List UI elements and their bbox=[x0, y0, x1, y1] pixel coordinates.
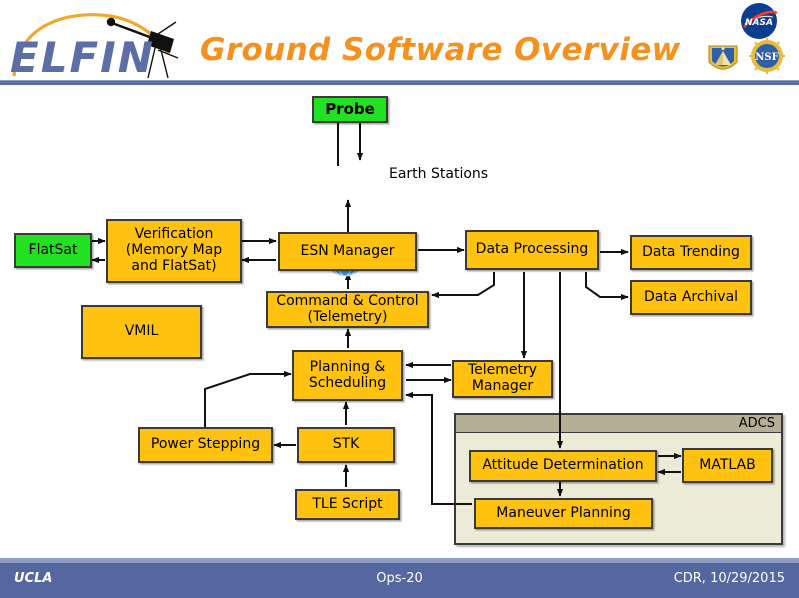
node-maneuver-planning-label: Maneuver Planning bbox=[496, 506, 630, 522]
diagram-canvas: ADCS bbox=[0, 84, 799, 558]
node-command-control[interactable]: Command & Control (Telemetry) bbox=[266, 291, 429, 328]
node-stk[interactable]: STK bbox=[297, 427, 395, 463]
node-flatsat[interactable]: FlatSat bbox=[14, 233, 92, 268]
node-verification-line2: (Memory Map bbox=[126, 243, 222, 259]
node-data-archival[interactable]: Data Archival bbox=[630, 280, 752, 315]
node-esn-manager-label: ESN Manager bbox=[300, 244, 394, 260]
node-esn-manager[interactable]: ESN Manager bbox=[278, 232, 417, 271]
node-verification[interactable]: Verification (Memory Map and FlatSat) bbox=[106, 219, 242, 283]
node-data-processing-label: Data Processing bbox=[476, 242, 589, 258]
node-flatsat-label: FlatSat bbox=[29, 243, 78, 259]
node-probe[interactable]: Probe bbox=[312, 96, 388, 123]
nasa-meatball-logo: NASA bbox=[741, 3, 777, 39]
node-maneuver-planning[interactable]: Maneuver Planning bbox=[474, 498, 653, 529]
node-matlab-label: MATLAB bbox=[699, 458, 755, 474]
adcs-group-label: ADCS bbox=[739, 415, 775, 432]
adcs-group-band bbox=[456, 415, 781, 433]
earth-stations-label: Earth Stations bbox=[389, 166, 488, 182]
node-stk-label: STK bbox=[333, 437, 360, 453]
node-vmil[interactable]: VMIL bbox=[81, 305, 202, 359]
node-verification-line1: Verification bbox=[135, 227, 214, 243]
node-planning-scheduling[interactable]: Planning & Scheduling bbox=[292, 350, 403, 401]
elfin-wordmark: ELFIN bbox=[10, 33, 155, 80]
node-data-archival-label: Data Archival bbox=[644, 290, 738, 306]
slide: ELFIN Ground Software Overview NASA bbox=[0, 0, 799, 598]
agency-logos: NASA bbox=[699, 2, 795, 80]
node-matlab[interactable]: MATLAB bbox=[682, 448, 773, 483]
slide-header: ELFIN Ground Software Overview NASA bbox=[0, 0, 799, 84]
node-command-control-line2: (Telemetry) bbox=[308, 310, 388, 326]
nsf-logo: NSF bbox=[749, 38, 785, 74]
node-command-control-line1: Command & Control bbox=[276, 294, 418, 310]
page-title-text: Ground Software Overview bbox=[200, 32, 681, 68]
node-verification-line3: and FlatSat) bbox=[131, 259, 216, 275]
node-data-trending-label: Data Trending bbox=[642, 245, 740, 261]
node-tle-script-label: TLE Script bbox=[312, 497, 382, 513]
node-attitude-determination[interactable]: Attitude Determination bbox=[469, 450, 657, 482]
node-power-stepping-label: Power Stepping bbox=[151, 437, 260, 453]
node-data-trending[interactable]: Data Trending bbox=[630, 235, 752, 270]
node-vmil-label: VMIL bbox=[125, 324, 159, 340]
node-data-processing[interactable]: Data Processing bbox=[465, 230, 599, 270]
node-attitude-determination-label: Attitude Determination bbox=[482, 458, 643, 474]
svg-text:NASA: NASA bbox=[745, 18, 773, 28]
afrl-logo bbox=[709, 46, 737, 69]
node-probe-label: Probe bbox=[325, 101, 375, 118]
footer-meta: CDR, 10/29/2015 bbox=[674, 571, 785, 586]
svg-text:NSF: NSF bbox=[755, 52, 778, 63]
node-planning-line2: Scheduling bbox=[309, 376, 386, 392]
slide-footer: UCLA Ops-20 CDR, 10/29/2015 bbox=[0, 563, 799, 598]
page-title: Ground Software Overview bbox=[200, 32, 681, 68]
node-planning-line1: Planning & bbox=[310, 360, 386, 376]
node-tle-script[interactable]: TLE Script bbox=[295, 489, 400, 520]
node-telemetry-manager-line2: Manager bbox=[472, 379, 533, 395]
node-power-stepping[interactable]: Power Stepping bbox=[138, 427, 273, 463]
elfin-logo: ELFIN bbox=[8, 6, 188, 80]
node-telemetry-manager-line1: Telemetry bbox=[468, 363, 537, 379]
node-telemetry-manager[interactable]: Telemetry Manager bbox=[452, 360, 553, 398]
